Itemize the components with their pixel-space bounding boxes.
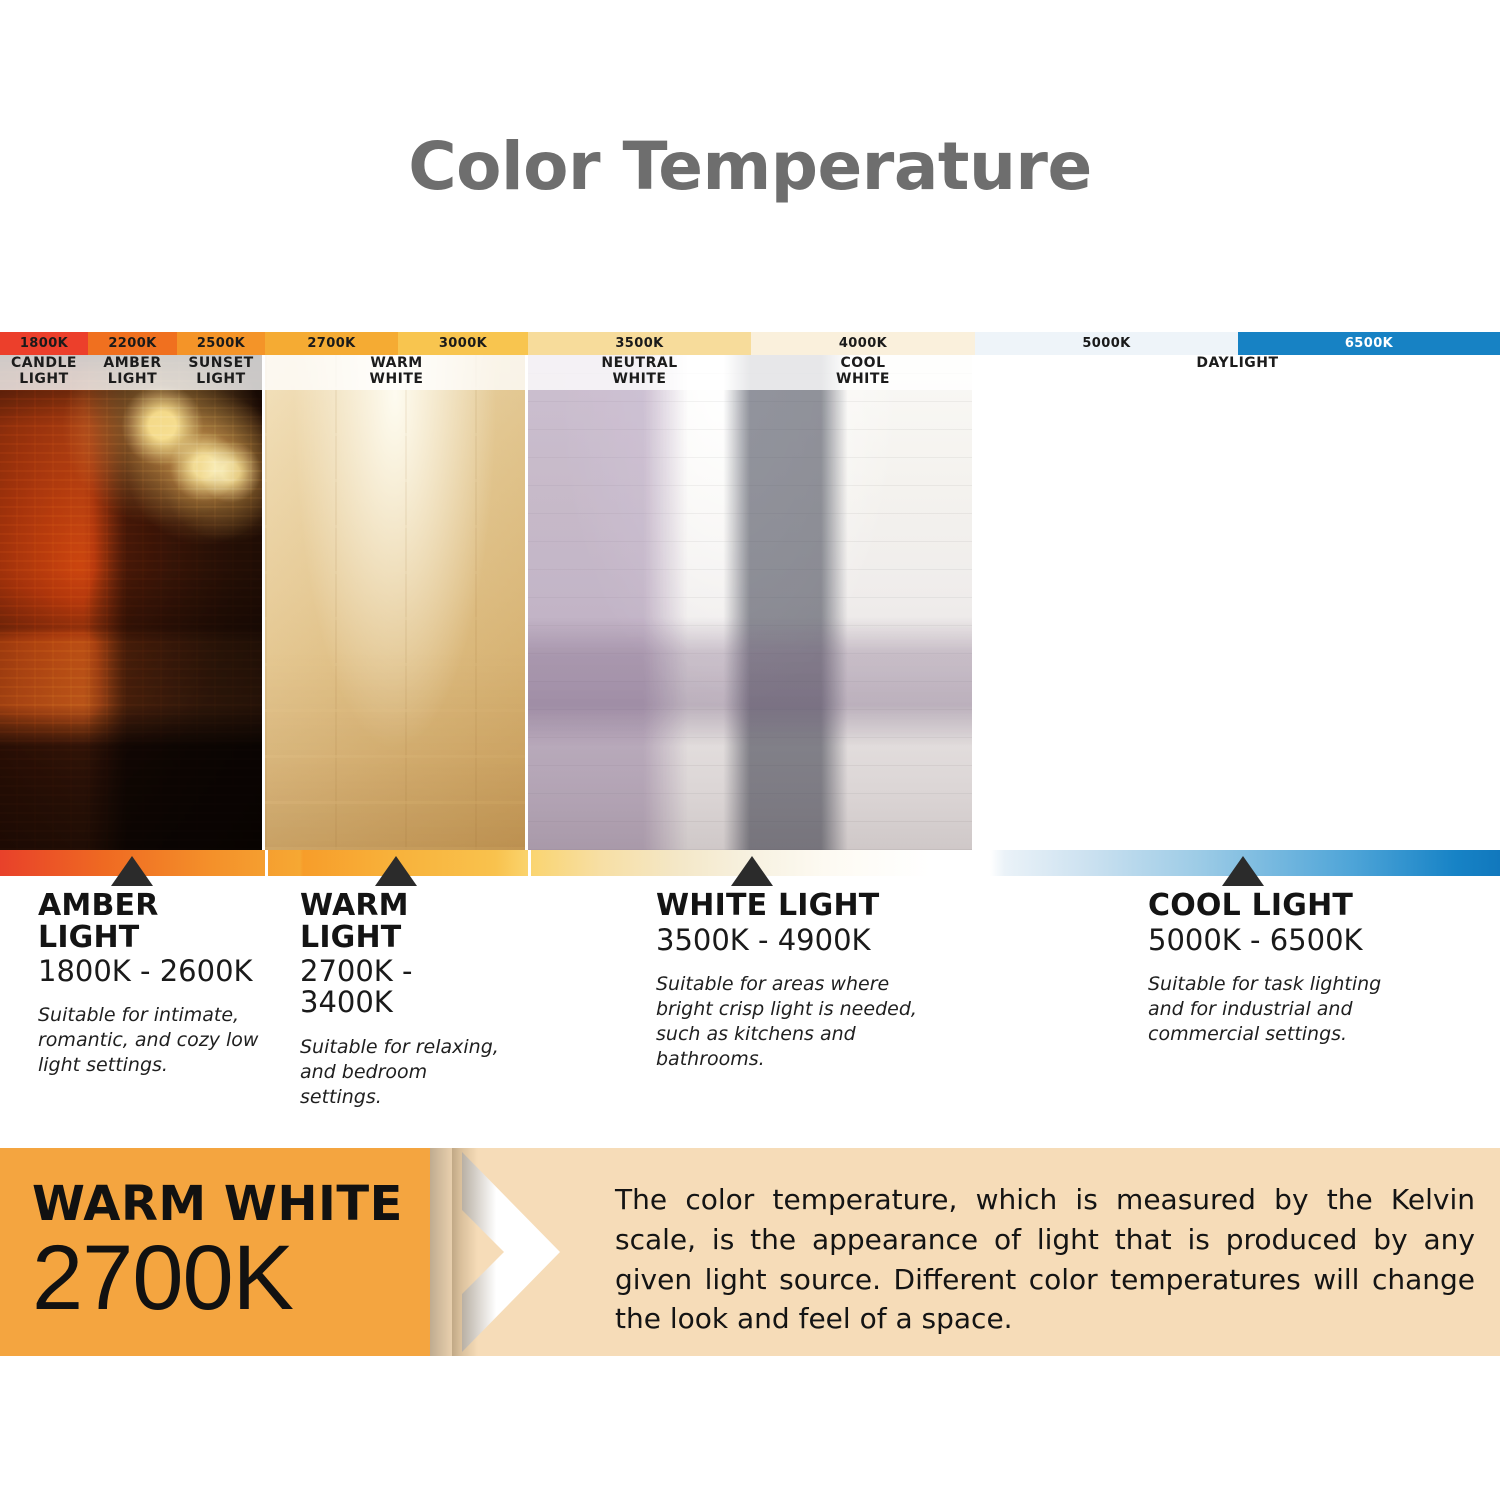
gradient-divider-1 bbox=[265, 850, 268, 876]
scale-name-neutral-white: NEUTRAL WHITE bbox=[528, 355, 751, 390]
scale-name-line1: SUNSET bbox=[188, 356, 253, 372]
scale-name-line2: LIGHT bbox=[108, 372, 157, 388]
category-white-light: WHITE LIGHT 3500K - 4900K Suitable for a… bbox=[656, 890, 926, 1072]
kelvin-scale-bar: 1800K 2200K 2500K 2700K 3000K 3500K 4000… bbox=[0, 332, 1500, 355]
category-range: 1800K - 2600K bbox=[38, 956, 268, 987]
category-name: COOL LIGHT bbox=[1148, 890, 1410, 922]
scale-name-line1: AMBER bbox=[103, 356, 161, 372]
scale-segment-2200k: 2200K bbox=[88, 332, 177, 355]
category-warm-light: WARM LIGHT 2700K - 3400K Suitable for re… bbox=[300, 890, 510, 1110]
scale-name-warm-white: WARM WHITE bbox=[265, 355, 528, 390]
scale-name-line2: LIGHT bbox=[19, 372, 68, 388]
panel-warm-white bbox=[265, 332, 528, 850]
pointer-cool-light bbox=[1222, 856, 1264, 886]
scale-segment-3500k: 3500K bbox=[528, 332, 751, 355]
scale-segment-2500k: 2500K bbox=[177, 332, 265, 355]
warm-living-room-photo bbox=[265, 332, 525, 850]
scale-segment-4000k: 4000K bbox=[751, 332, 975, 355]
banner-kelvin-value: 2700K bbox=[32, 1232, 430, 1324]
chevron-right-icon bbox=[452, 1148, 592, 1356]
pointer-white-light bbox=[731, 856, 773, 886]
panel-amber-light bbox=[0, 332, 265, 850]
scale-name-line1: CANDLE bbox=[11, 356, 77, 372]
cool-warehouse-photo bbox=[975, 332, 1500, 850]
panel-daylight bbox=[975, 332, 1500, 850]
category-name: WHITE LIGHT bbox=[656, 890, 926, 922]
neutral-living-room-photo bbox=[528, 332, 972, 850]
scale-name-line2: WHITE bbox=[613, 372, 667, 388]
scale-name-line1: COOL bbox=[841, 356, 886, 372]
category-list: AMBER LIGHT 1800K - 2600K Suitable for i… bbox=[0, 890, 1500, 1090]
banner-kind-label: WARM WHITE bbox=[32, 1180, 430, 1228]
scale-name-amber-light: AMBER LIGHT bbox=[88, 355, 177, 390]
photo-strip bbox=[0, 332, 1500, 850]
pointer-warm-light bbox=[375, 856, 417, 886]
category-range: 5000K - 6500K bbox=[1148, 925, 1410, 956]
category-cool-light: COOL LIGHT 5000K - 6500K Suitable for ta… bbox=[1148, 890, 1410, 1047]
banner-highlight-block: WARM WHITE 2700K bbox=[0, 1148, 430, 1356]
summary-banner: WARM WHITE 2700K bbox=[0, 1148, 1500, 1356]
scale-name-daylight: DAYLIGHT bbox=[975, 355, 1500, 390]
scale-segment-3000k: 3000K bbox=[398, 332, 528, 355]
category-description: Suitable for areas where bright crisp li… bbox=[656, 972, 926, 1072]
scale-segment-1800k: 1800K bbox=[0, 332, 88, 355]
scale-segment-6500k: 6500K bbox=[1238, 332, 1500, 355]
category-description: Suitable for intimate, romantic, and coz… bbox=[38, 1003, 268, 1078]
category-name: AMBER LIGHT bbox=[38, 890, 268, 953]
scale-name-line2: LIGHT bbox=[196, 372, 245, 388]
category-amber-light: AMBER LIGHT 1800K - 2600K Suitable for i… bbox=[38, 890, 268, 1079]
scale-name-line1: DAYLIGHT bbox=[1196, 356, 1278, 372]
scale-name-candle-light: CANDLE LIGHT bbox=[0, 355, 88, 390]
category-name: WARM LIGHT bbox=[300, 890, 510, 953]
page-title: Color Temperature bbox=[0, 128, 1500, 205]
infographic-page: Color Temperature 1800K 2200K 2500K 2700… bbox=[0, 0, 1500, 1500]
scale-segment-2700k: 2700K bbox=[265, 332, 398, 355]
category-range: 2700K - 3400K bbox=[300, 956, 510, 1019]
gradient-divider-3 bbox=[975, 850, 978, 876]
amber-loft-photo bbox=[0, 332, 262, 850]
panel-neutral-white bbox=[528, 332, 975, 850]
gradient-divider-2 bbox=[528, 850, 531, 876]
kelvin-scale: 1800K 2200K 2500K 2700K 3000K 3500K 4000… bbox=[0, 332, 1500, 390]
scale-name-line1: NEUTRAL bbox=[601, 356, 677, 372]
scale-name-cool-white: COOL WHITE bbox=[751, 355, 975, 390]
category-description: Suitable for task lighting and for indus… bbox=[1148, 972, 1410, 1047]
scale-name-line2: WHITE bbox=[370, 372, 424, 388]
kelvin-scale-names: CANDLE LIGHT AMBER LIGHT SUNSET LIGHT WA… bbox=[0, 355, 1500, 390]
category-range: 3500K - 4900K bbox=[656, 925, 926, 956]
scale-name-line2: WHITE bbox=[836, 372, 890, 388]
scale-name-line1: WARM bbox=[370, 356, 422, 372]
banner-description: The color temperature, which is measured… bbox=[615, 1180, 1475, 1339]
scale-segment-5000k: 5000K bbox=[975, 332, 1238, 355]
category-description: Suitable for relaxing, and bedroom setti… bbox=[300, 1035, 510, 1110]
pointer-amber-light bbox=[111, 856, 153, 886]
scale-name-sunset-light: SUNSET LIGHT bbox=[177, 355, 265, 390]
